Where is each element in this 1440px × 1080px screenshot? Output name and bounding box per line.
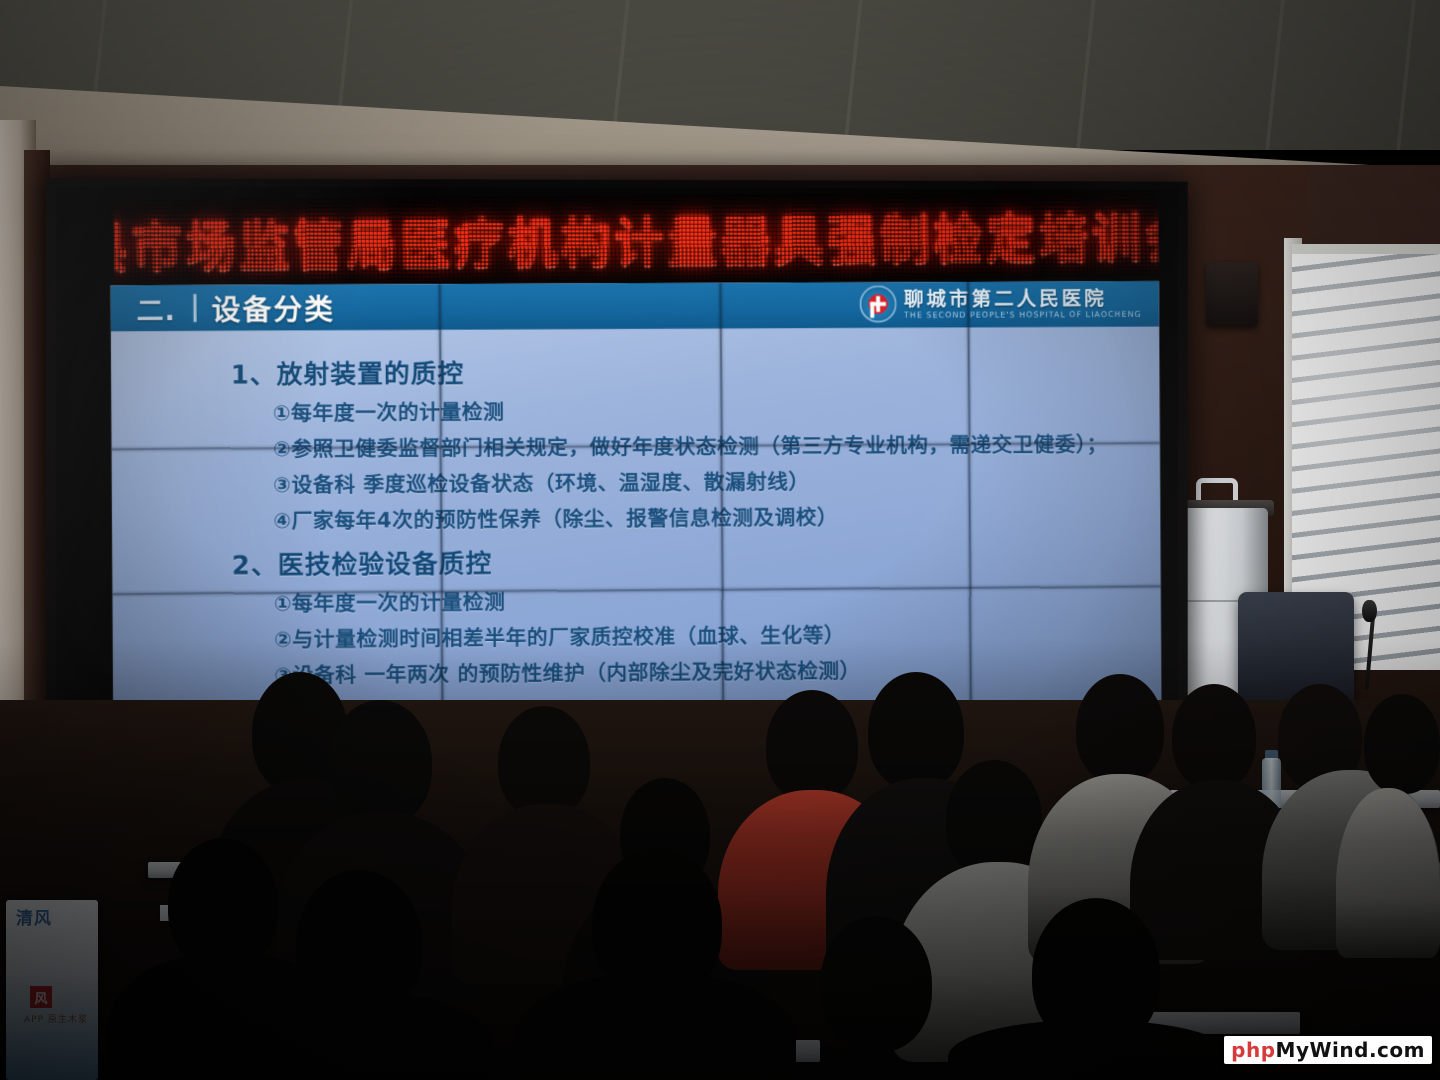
tissue-box-brand-icon: 风 [30,986,52,1008]
water-jug-handle [1196,478,1238,502]
slide-section-1: 1、放射装置的质控 ①每年度一次的计量检测 ②参照卫健委监督部门相关规定，做好年… [111,350,1161,536]
wall-speaker [1206,262,1258,326]
hospital-emblem-icon [860,285,898,323]
tissue-box-sublabel: APP 原生木浆 [24,1012,88,1025]
audience-head [498,706,590,818]
led-banner-text: 县市场监管局医疗机构计量器具强制检定培训会 [129,196,1147,281]
hospital-logo-text: 聊城市第二人民医院 THE SECOND PEOPLE'S HOSPITAL O… [904,288,1142,320]
tissue-box-label: 清风 [16,910,88,930]
audience-head-front [168,838,278,970]
audience-head [946,760,1042,878]
screenshot-root: 县市场监管局医疗机构计量器具强制检定培训会 二. 设备分类 聊城市第二人民医院 … [0,0,1440,1080]
presentation-slide[interactable]: 二. 设备分类 聊城市第二人民医院 THE SECOND PEOPLE'S HO… [111,281,1162,753]
section-item: ④厂家每年4次的预防性保养（除尘、报警信息检测及调校） [273,499,1160,535]
slide-title: 设备分类 [212,286,336,328]
audience-head [1172,684,1256,790]
slide-section-number: 二. [136,289,175,328]
video-wall[interactable]: 县市场监管局医疗机构计量器具强制检定培训会 二. 设备分类 聊城市第二人民医院 … [46,178,1188,766]
section-item: ①每年度一次的计量检测 [274,581,1161,617]
audience-head [1076,674,1164,784]
audience-head [766,690,858,802]
section-heading: 1、放射装置的质控 [231,350,1160,391]
slide-section-2: 2、医技检验设备质控 ①每年度一次的计量检测 ②与计量检测时间相差半年的厂家质控… [112,539,1161,691]
tissue-box: 清风 风 APP 原生木浆 [6,900,98,1080]
section-item: ②参照卫健委监督部门相关规定，做好年度状态检测（第三方专业机构，需递交卫健委）； [273,428,1160,463]
audience-head [328,700,432,826]
audience-head [868,672,964,790]
hospital-logo: 聊城市第二人民医院 THE SECOND PEOPLE'S HOSPITAL O… [860,284,1142,323]
led-banner: 县市场监管局医疗机构计量器具强制检定培训会 [113,191,1158,287]
microphone-icon [1362,600,1377,622]
watermark: phpMyWind.com [1224,1036,1432,1064]
watermark-part-b: MyWind.com [1276,1038,1425,1062]
medical-cross-icon [871,302,887,306]
watermark-part-a: php [1231,1038,1275,1062]
section-item: ①每年度一次的计量检测 [273,393,1160,428]
section-item: ②与计量检测时间相差半年的厂家质控校准（血球、生化等） [274,617,1161,654]
audience-head-front [820,916,932,1052]
section-item: ③设备科 一年两次 的预防性维护（内部除尘及完好状态检测） [274,653,1161,690]
audience-head [1364,694,1440,794]
section-item: ③设备科 季度巡检设备状态（环境、温湿度、散漏射线） [273,464,1160,499]
hospital-name-en: THE SECOND PEOPLE'S HOSPITAL OF LIAOCHEN… [904,310,1142,319]
section-heading: 2、医技检验设备质控 [232,539,1161,582]
blind-rail[interactable] [1292,244,1440,254]
slide-header: 二. 设备分类 聊城市第二人民医院 THE SECOND PEOPLE'S HO… [111,281,1160,331]
hospital-name-cn: 聊城市第二人民医院 [904,288,1142,309]
slide-header-divider [194,294,197,322]
